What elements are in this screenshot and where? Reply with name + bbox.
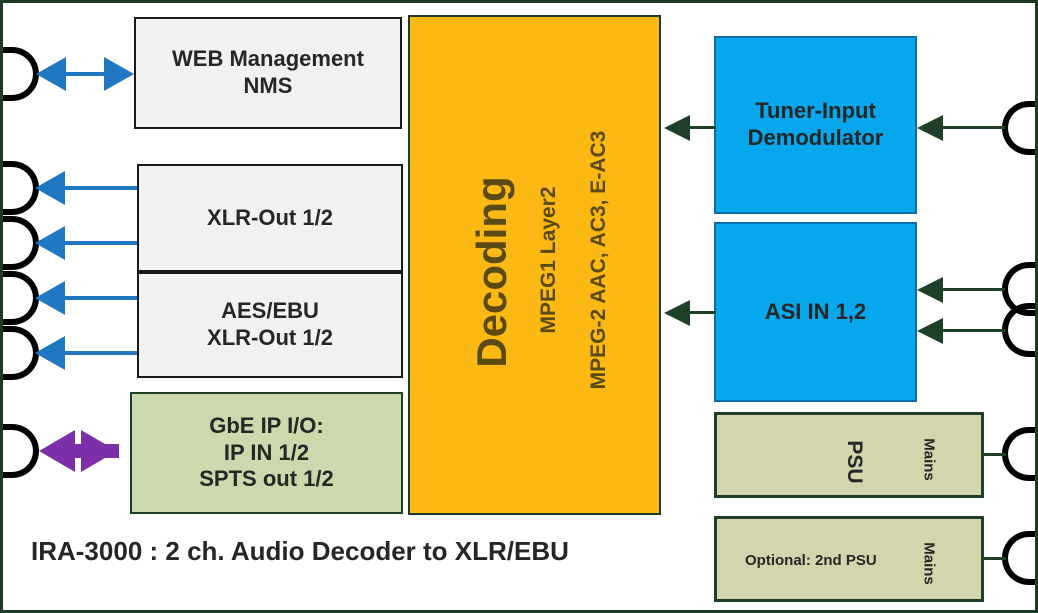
connector-aes-ebu-2[interactable] — [3, 326, 39, 380]
psu-mains-label: Mains — [921, 425, 938, 495]
asi-in-label: ASI IN 1,2 — [765, 299, 866, 326]
psu-optional-label: Optional: 2nd PSU — [745, 552, 877, 569]
connector-xlr-out-1[interactable] — [3, 161, 39, 215]
web-management-line2: NMS — [172, 73, 364, 100]
arrow-nms-head-right — [104, 57, 134, 91]
arrow-aes-ebu-1-line — [65, 296, 137, 300]
arrow-xlr-out-1-line — [65, 186, 137, 190]
arrow-nms-head-left — [36, 57, 66, 91]
decoding-title: Decoding — [468, 162, 516, 382]
arrow-aes-ebu-1-head — [35, 281, 65, 315]
block-tuner-input-demodulator[interactable]: Tuner-Input Demodulator — [714, 36, 917, 214]
arrow-asi-in-2-head — [917, 318, 943, 344]
arrow-xlr-out-2-line — [65, 241, 137, 245]
arrow-gbe-head-right — [81, 430, 117, 472]
line-psu-mains — [984, 453, 1006, 456]
connector-psu-mains[interactable] — [1002, 427, 1038, 481]
arrow-xlr-out-2-head — [35, 226, 65, 260]
connector-xlr-out-2[interactable] — [3, 216, 39, 270]
arrow-tuner-rf-input-head — [917, 115, 943, 141]
aes-ebu-line1: AES/EBU — [207, 298, 333, 325]
decoding-subtitle-1: MPEG1 Layer2 — [537, 150, 561, 370]
arrow-tuner-to-decoder-head — [664, 115, 690, 141]
arrow-asi-in-1-head — [917, 277, 943, 303]
block-web-management[interactable]: WEB Management NMS — [134, 17, 402, 129]
connector-psu-optional-mains[interactable] — [1002, 531, 1038, 585]
decoding-subtitle-2: MPEG-2 AAC, AC3, E-AC3 — [587, 130, 611, 390]
connector-aes-ebu-1[interactable] — [3, 271, 39, 325]
arrow-tuner-to-decoder-line — [690, 126, 716, 129]
connector-tuner-rf-input[interactable] — [1002, 101, 1038, 155]
line-tuner-rf-input — [943, 126, 1005, 129]
block-decoding[interactable] — [408, 15, 661, 515]
arrow-aes-ebu-2-head — [35, 336, 65, 370]
block-xlr-out[interactable]: XLR-Out 1/2 — [137, 164, 403, 272]
connector-nms[interactable] — [3, 47, 39, 101]
gbe-line3: SPTS out 1/2 — [199, 466, 333, 493]
web-management-line1: WEB Management — [172, 46, 364, 73]
line-asi-in-1 — [943, 288, 1005, 291]
line-asi-in-2 — [943, 329, 1005, 332]
block-asi-in[interactable]: ASI IN 1,2 — [714, 222, 917, 402]
connector-gbe-ip[interactable] — [3, 424, 39, 478]
block-gbe-ip-io[interactable]: GbE IP I/O: IP IN 1/2 SPTS out 1/2 — [130, 392, 403, 514]
block-aes-ebu-xlr-out[interactable]: AES/EBU XLR-Out 1/2 — [137, 272, 403, 378]
line-psu-optional-mains — [984, 557, 1006, 560]
arrow-aes-ebu-2-line — [65, 351, 137, 355]
aes-ebu-line2: XLR-Out 1/2 — [207, 325, 333, 352]
xlr-out-label: XLR-Out 1/2 — [207, 205, 333, 232]
tuner-line2: Demodulator — [748, 125, 884, 152]
diagram-caption: IRA-3000 : 2 ch. Audio Decoder to XLR/EB… — [31, 536, 569, 567]
arrow-xlr-out-1-head — [35, 171, 65, 205]
tuner-line1: Tuner-Input — [748, 98, 884, 125]
gbe-line1: GbE IP I/O: — [199, 413, 333, 440]
psu-label: PSU — [842, 417, 866, 507]
arrow-asi-to-decoder-head — [664, 300, 690, 326]
connector-asi-in-2[interactable] — [1002, 303, 1038, 357]
arrow-asi-to-decoder-line — [690, 311, 716, 314]
block-diagram-canvas: WEB Management NMS XLR-Out 1/2 AES/EBU X… — [0, 0, 1038, 613]
psu-optional-mains-label: Mains — [921, 529, 938, 599]
gbe-line2: IP IN 1/2 — [199, 440, 333, 467]
arrow-gbe-head-left — [39, 430, 75, 472]
